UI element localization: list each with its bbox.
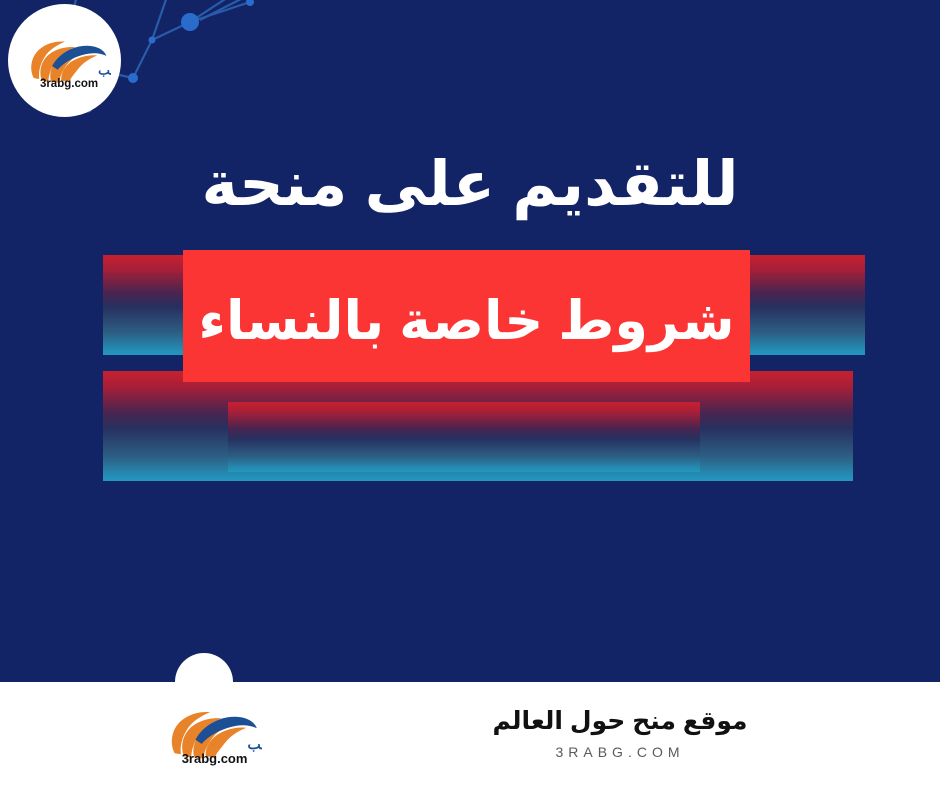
headline: للتقديم على منحة (0, 152, 940, 217)
brand-logo-icon: دليل الطالب 3rabg.com (19, 25, 111, 97)
footer-tagline-arabic: موقع منح حول العالم (150, 706, 940, 736)
gradient-bar-inset (228, 402, 700, 472)
callout-text: شروط خاصة بالنساء (198, 289, 734, 352)
brand-logo-arabic: دليل الطالب (98, 63, 111, 77)
brand-badge[interactable]: دليل الطالب 3rabg.com (8, 4, 121, 117)
callout-banner: شروط خاصة بالنساء (183, 250, 750, 382)
poster-canvas: دليل الطالب 3rabg.com للتقديم على منحة ش… (0, 0, 940, 788)
footer-bar: دليل الطالب 3rabg.com موقع منح حول العال… (0, 682, 940, 788)
footer-tagline: موقع منح حول العالم 3RABG.COM (150, 706, 940, 760)
brand-logo-domain: 3rabg.com (39, 77, 97, 89)
footer-tagline-site: 3RABG.COM (150, 744, 940, 760)
